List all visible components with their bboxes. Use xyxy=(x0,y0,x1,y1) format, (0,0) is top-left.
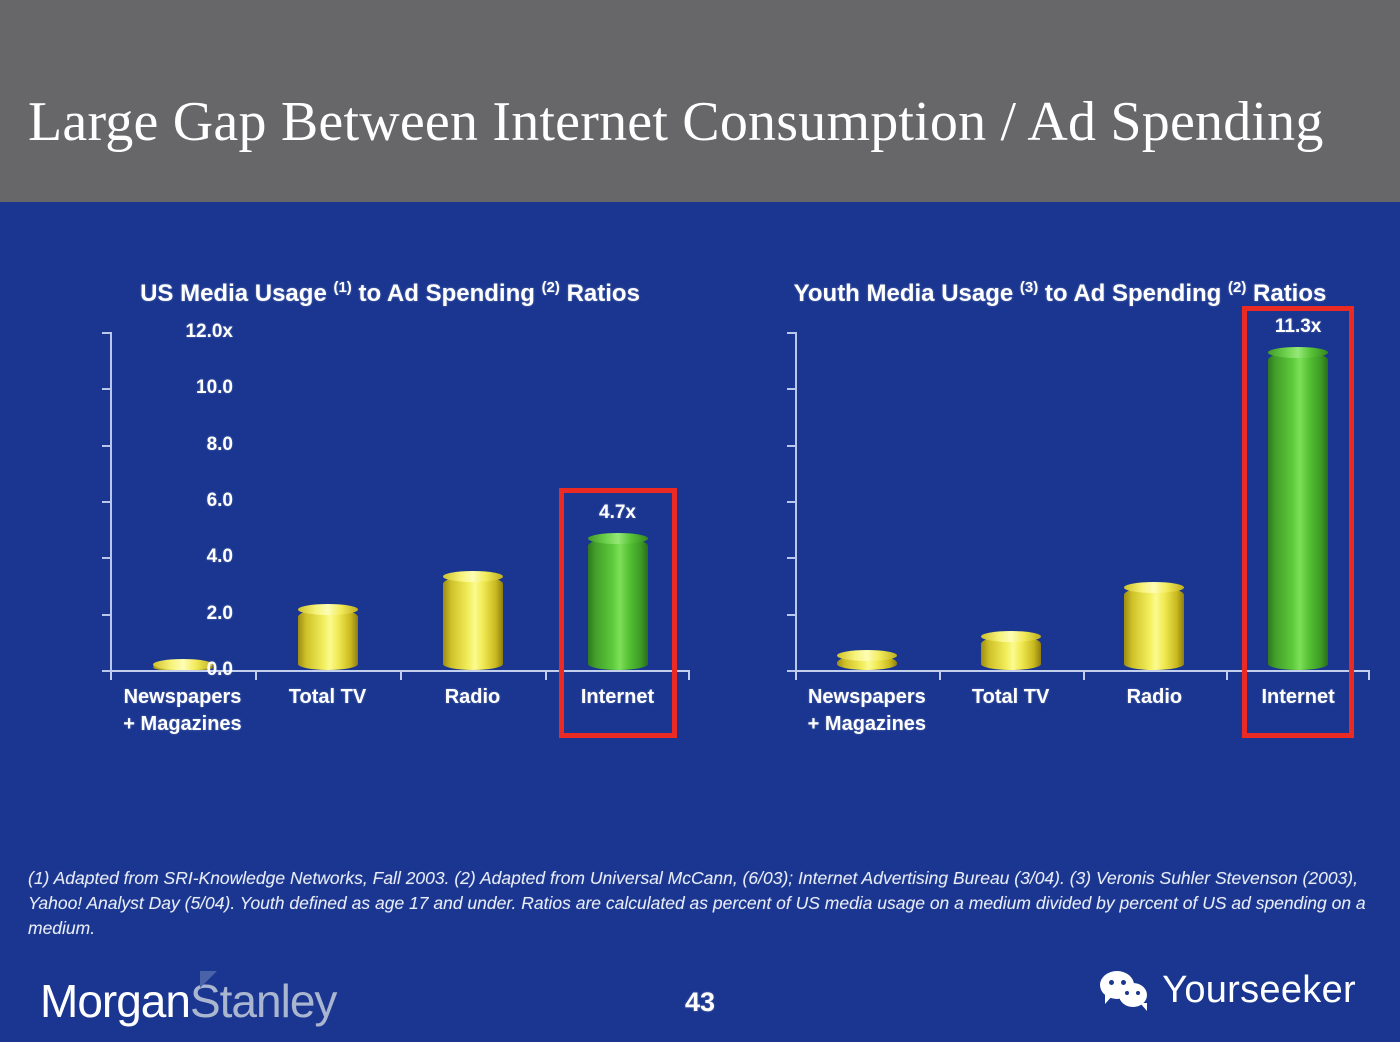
x-category-label: Internet xyxy=(539,684,696,711)
y-tick-mark xyxy=(102,614,111,616)
x-category-label: Newspapers+ Magazines xyxy=(104,684,261,738)
bar-total-tv xyxy=(981,636,1041,670)
x-tick-mark xyxy=(110,672,112,680)
bar-cap-ellipse xyxy=(837,650,897,661)
watermark-label: Yourseeker xyxy=(1162,969,1356,1012)
y-tick-label: 10.0 xyxy=(163,377,233,399)
slide: Large Gap Between Internet Consumption /… xyxy=(0,0,1400,1042)
bar-cylinder xyxy=(1268,352,1328,670)
plot-area-left: 12.0x10.08.06.04.02.00.0Newspapers+ Maga… xyxy=(40,320,720,740)
chart-title-left: US Media Usage (1) to Ad Spending (2) Ra… xyxy=(40,270,720,311)
y-tick-mark xyxy=(787,445,796,447)
chart-title-right: Youth Media Usage (3) to Ad Spending (2)… xyxy=(730,270,1390,311)
bar-cap-ellipse xyxy=(443,571,503,582)
chart-title-left-a: US Media Usage xyxy=(140,280,333,307)
bar-cap-ellipse xyxy=(298,604,358,615)
y-tick-mark xyxy=(102,557,111,559)
x-category-label: Radio xyxy=(1077,684,1233,711)
bar-value-label: 11.3x xyxy=(1275,316,1322,338)
chart-youth-media-usage: Youth Media Usage (3) to Ad Spending (2)… xyxy=(730,270,1390,800)
bar-value-label: 4.7x xyxy=(599,502,636,524)
x-tick-mark xyxy=(688,672,690,680)
chart-title-right-b: to Ad Spending xyxy=(1038,280,1228,307)
y-tick-label: 2.0 xyxy=(163,603,233,625)
y-tick-mark xyxy=(102,445,111,447)
bar-cap-ellipse xyxy=(1124,582,1184,593)
bar-total-tv xyxy=(298,609,358,670)
y-tick-mark xyxy=(787,501,796,503)
y-tick-label: 4.0 xyxy=(163,546,233,568)
x-tick-mark xyxy=(1368,672,1370,680)
chart-title-left-sup1: (1) xyxy=(333,279,351,296)
y-tick-label: 12.0x xyxy=(163,321,233,343)
bar-radio xyxy=(443,576,503,670)
footnote: (1) Adapted from SRI-Knowledge Networks,… xyxy=(28,866,1372,941)
bar-internet xyxy=(588,538,648,670)
x-category-label: Radio xyxy=(394,684,551,711)
bar-cylinder xyxy=(837,655,897,670)
y-tick-label: 0.0 xyxy=(163,659,233,681)
bar-cylinder xyxy=(298,609,358,670)
x-category-line: Newspapers xyxy=(789,684,945,711)
x-tick-mark xyxy=(255,672,257,680)
y-tick-mark xyxy=(787,388,796,390)
wechat-icon xyxy=(1100,971,1152,1011)
x-category-line: Total TV xyxy=(249,684,406,711)
chart-title-left-sup2: (2) xyxy=(542,279,560,296)
bar-cylinder xyxy=(588,538,648,670)
bar-cylinder xyxy=(1124,587,1184,670)
watermark: Yourseeker xyxy=(1100,969,1356,1012)
x-tick-mark xyxy=(939,672,941,680)
x-category-line: Radio xyxy=(394,684,551,711)
chart-title-left-b: to Ad Spending xyxy=(352,280,542,307)
x-category-label: Total TV xyxy=(933,684,1089,711)
x-category-line: + Magazines xyxy=(789,711,945,738)
page-title: Large Gap Between Internet Consumption /… xyxy=(28,90,1324,154)
bar-cap-ellipse xyxy=(588,533,648,544)
y-tick-mark xyxy=(102,388,111,390)
bar-cap-ellipse xyxy=(1268,347,1328,358)
chart-title-right-sup2: (2) xyxy=(1228,279,1246,296)
x-category-line: Internet xyxy=(539,684,696,711)
y-tick-mark xyxy=(787,332,796,334)
x-category-line: Newspapers xyxy=(104,684,261,711)
bar-internet xyxy=(1268,352,1328,670)
x-category-line: Internet xyxy=(1220,684,1376,711)
chart-us-media-usage: US Media Usage (1) to Ad Spending (2) Ra… xyxy=(40,270,720,800)
bar-cylinder xyxy=(981,636,1041,670)
chart-title-left-c: Ratios xyxy=(560,280,640,307)
bar-radio xyxy=(1124,587,1184,670)
y-tick-mark xyxy=(787,557,796,559)
plot-area-right: 12.0x10.08.06.04.02.00.0Newspapers+ Maga… xyxy=(730,355,1390,775)
y-tick-label: 6.0 xyxy=(163,490,233,512)
chart-title-right-c: Ratios xyxy=(1246,280,1326,307)
x-tick-mark xyxy=(795,672,797,680)
y-tick-mark xyxy=(787,614,796,616)
x-tick-mark xyxy=(1226,672,1228,680)
x-tick-mark xyxy=(545,672,547,680)
y-tick-mark xyxy=(102,501,111,503)
chart-title-right-sup1: (3) xyxy=(1020,279,1038,296)
bar-newspapers-magazines xyxy=(837,655,897,670)
bar-cap-ellipse xyxy=(981,631,1041,642)
x-category-label: Total TV xyxy=(249,684,406,711)
x-category-line: + Magazines xyxy=(104,711,261,738)
x-tick-mark xyxy=(400,672,402,680)
x-category-label: Internet xyxy=(1220,684,1376,711)
chart-title-right-a: Youth Media Usage xyxy=(794,280,1020,307)
x-category-line: Radio xyxy=(1077,684,1233,711)
slide-footer: MorganStanley 43 Yourseeker xyxy=(0,937,1400,1042)
bar-cylinder xyxy=(443,576,503,670)
y-tick-label: 8.0 xyxy=(163,434,233,456)
morgan-stanley-triangle-icon xyxy=(200,971,217,988)
x-category-label: Newspapers+ Magazines xyxy=(789,684,945,738)
y-tick-mark xyxy=(102,332,111,334)
x-category-line: Total TV xyxy=(933,684,1089,711)
x-tick-mark xyxy=(1083,672,1085,680)
